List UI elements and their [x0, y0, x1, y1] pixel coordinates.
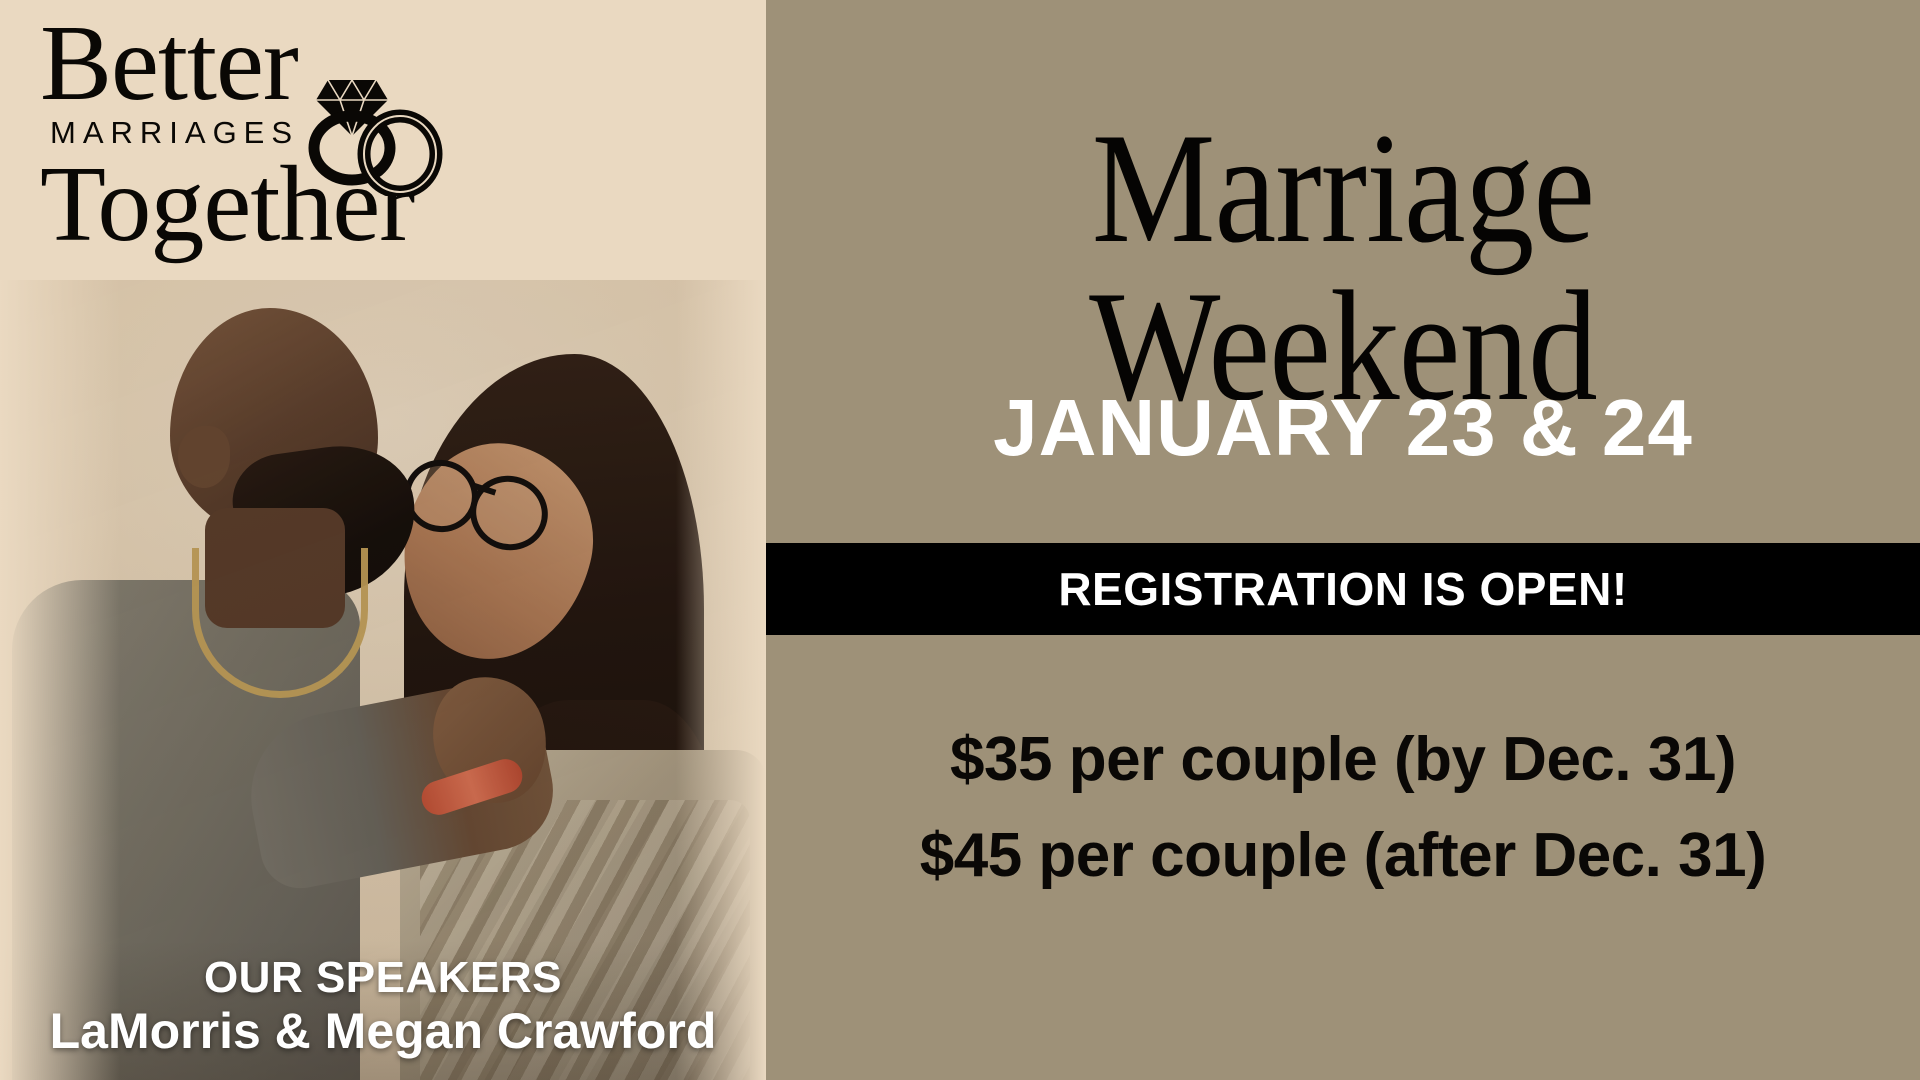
speakers-names: LaMorris & Megan Crawford [0, 1005, 766, 1058]
price-early: $35 per couple (by Dec. 31) [766, 712, 1920, 808]
wedding-rings-diamond-icon [298, 66, 448, 196]
registration-banner: REGISTRATION IS OPEN! [766, 543, 1920, 635]
right-panel: Marriage Weekend JANUARY 23 & 24 REGISTR… [766, 0, 1920, 1080]
marriage-weekend-poster: Better MARRIAGES Together [0, 0, 1920, 1080]
speakers-label: OUR SPEAKERS [0, 953, 766, 1003]
price-late: $45 per couple (after Dec. 31) [766, 808, 1920, 904]
event-headline: Marriage Weekend [835, 110, 1851, 426]
pricing-list: $35 per couple (by Dec. 31) $45 per coup… [766, 712, 1920, 904]
event-dates: JANUARY 23 & 24 [766, 382, 1920, 474]
better-marriages-together-logo: Better MARRIAGES Together [40, 14, 460, 255]
left-panel: Better MARRIAGES Together [0, 0, 766, 1080]
speakers-caption: OUR SPEAKERS LaMorris & Megan Crawford [0, 953, 766, 1058]
registration-banner-text: REGISTRATION IS OPEN! [1058, 562, 1627, 616]
